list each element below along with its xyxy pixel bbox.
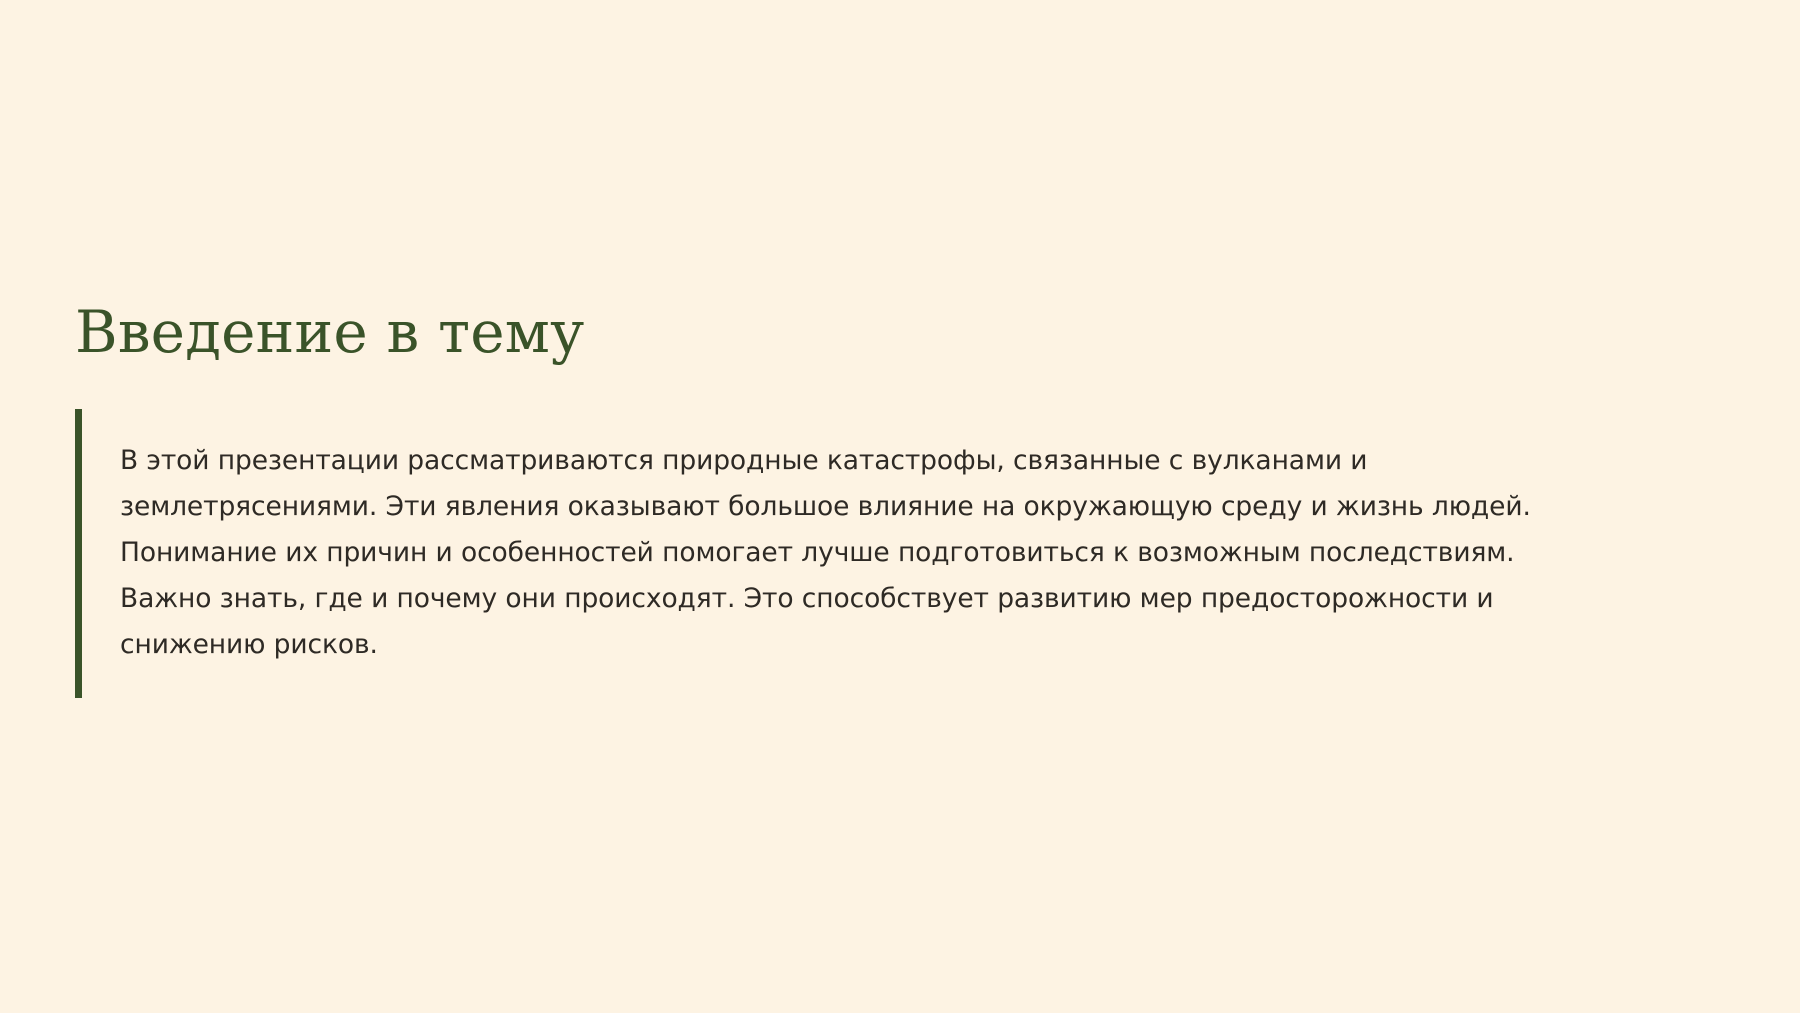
body-block: В этой презентации рассматриваются приро… [75, 409, 1735, 698]
presentation-slide: Введение в тему В этой презентации рассм… [0, 0, 1800, 1013]
slide-content: Введение в тему В этой презентации рассм… [75, 300, 1735, 698]
page-title: Введение в тему [75, 300, 1735, 365]
left-accent-bar [75, 409, 82, 698]
body-paragraph: В этой презентации рассматриваются приро… [120, 435, 1540, 671]
